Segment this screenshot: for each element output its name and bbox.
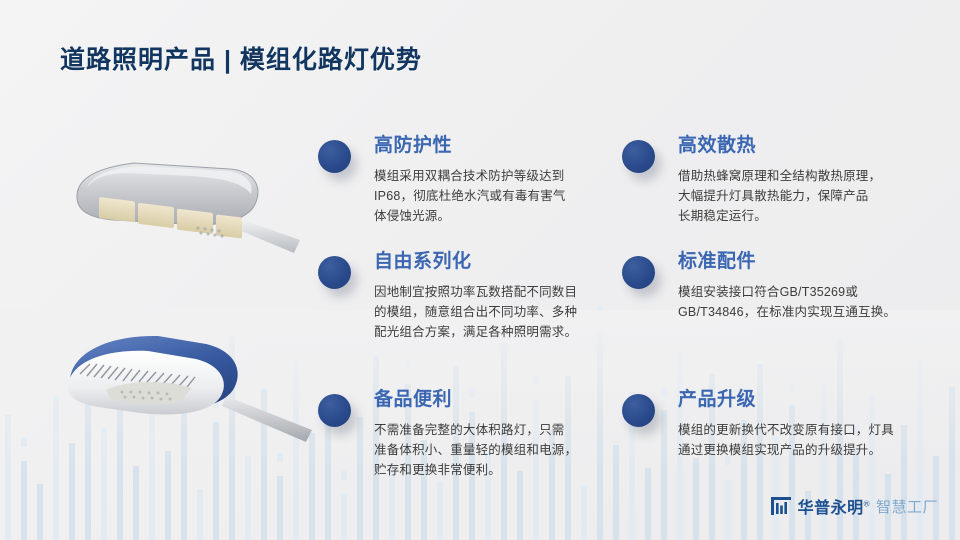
feature-body-line: 模组的更新换代不改变原有接口，灯具 [678, 420, 894, 440]
background-bar [645, 468, 652, 540]
bullet-dot-icon [318, 256, 351, 289]
feature-heading: 高效散热 [678, 136, 881, 157]
feature-body-line: 的模组，随意组合出不同功率、多种 [374, 302, 577, 322]
logo-brand-text: 华普永明 [798, 500, 864, 517]
background-bar-tick [661, 387, 668, 396]
feature-body-line: 模组采用双耦合技术防护等级达到 [374, 166, 566, 186]
background-bar [693, 458, 700, 540]
feature-body-line: 准备体积小、重量轻的模组和电源， [374, 440, 577, 460]
feature-body-line: 不需准备完整的大体积路灯，只需 [374, 420, 577, 440]
hpwinner-bracket-icon [770, 496, 792, 516]
feature-body-line: GB/T34846，在标准内实现互通互换。 [678, 302, 896, 322]
background-bar-tick [597, 307, 604, 316]
background-bar-tick [21, 438, 28, 447]
background-bar [165, 451, 172, 540]
background-bar-tick [341, 471, 348, 480]
feature-body-line: 配光组合方案，满足各种照明需求。 [374, 322, 577, 342]
background-bar [901, 425, 908, 540]
feature-body-line: 长期稳定运行。 [678, 206, 881, 226]
background-bar-tick [277, 453, 284, 462]
slide-canvas: 道路照明产品 | 模组化路灯优势 高防护性 模组采用双耦合技术防护等级达到 IP… [0, 0, 960, 540]
feature-heading: 备品便利 [374, 390, 577, 411]
street-lamp-oval-photo [30, 318, 320, 448]
background-bar [341, 494, 348, 540]
background-bar [277, 476, 284, 540]
background-bar [309, 433, 316, 540]
feature-heading: 标准配件 [678, 252, 896, 273]
feature-body-line: 因地制宜按照功率瓦数搭配不同数目 [374, 282, 577, 302]
background-bar [5, 415, 12, 540]
background-bar [597, 330, 604, 540]
feature-heading: 自由系列化 [374, 252, 577, 273]
feature-body: 因地制宜按照功率瓦数搭配不同数目 的模组，随意组合出不同功率、多种 配光组合方案… [374, 282, 577, 343]
background-bar [725, 479, 732, 540]
feature-body-line: IP68，彻底杜绝水汽或有毒有害气 [374, 186, 566, 206]
feature-body: 模组安装接口符合GB/T35269或 GB/T34846，在标准内实现互通互换。 [678, 282, 896, 323]
logo-suffix-text: 智慧工厂 [876, 496, 938, 517]
feature-body: 模组采用双耦合技术防护等级达到 IP68，彻底杜绝水汽或有毒有害气 体侵蚀光源。 [374, 166, 566, 227]
feature-body-line: 模组安装接口符合GB/T35269或 [678, 282, 896, 302]
background-bar [197, 489, 204, 540]
background-bar-tick [405, 361, 412, 370]
background-bar-tick [917, 336, 924, 345]
feature-body-line: 通过更换模组实现产品的升级提升。 [678, 440, 894, 460]
background-bar-tick [533, 376, 540, 385]
background-bar [613, 445, 620, 540]
bullet-dot-icon [622, 140, 655, 173]
background-bar [581, 486, 588, 540]
bullet-dot-icon [318, 394, 351, 427]
bullet-dot-icon [622, 394, 655, 427]
background-bar [245, 456, 252, 540]
background-bar [37, 484, 44, 540]
slide-title: 道路照明产品 | 模组化路灯优势 [60, 40, 422, 76]
feature-heading: 产品升级 [678, 390, 894, 411]
street-lamp-module-photo [42, 140, 307, 260]
background-bar [21, 461, 28, 540]
feature-body: 不需准备完整的大体积路灯，只需 准备体积小、重量轻的模组和电源， 贮存和更换非常… [374, 420, 577, 481]
background-bar [69, 443, 76, 540]
feature-body: 模组的更新换代不改变原有接口，灯具 通过更换模组实现产品的升级提升。 [678, 420, 894, 461]
brand-logo: 华普永明® 智慧工厂 [770, 494, 938, 518]
feature-body: 借助热蜂窝原理和全结构散热原理， 大幅提升灯具散热能力，保障产品 长期稳定运行。 [678, 166, 881, 227]
bullet-dot-icon [622, 256, 655, 289]
background-bar [949, 387, 956, 540]
background-bar [357, 417, 364, 540]
background-bar [661, 410, 668, 540]
logo-brand-name: 华普永明® [798, 494, 870, 518]
background-bar [133, 466, 140, 540]
feature-body-line: 贮存和更换非常便利。 [374, 460, 577, 480]
background-bar [437, 481, 444, 540]
feature-body-line: 体侵蚀光源。 [374, 206, 566, 226]
background-bar [517, 471, 524, 540]
feature-body-line: 借助热蜂窝原理和全结构散热原理， [678, 166, 881, 186]
logo-registered-mark: ® [864, 500, 870, 509]
feature-body-line: 大幅提升灯具散热能力，保障产品 [678, 186, 881, 206]
bullet-dot-icon [318, 140, 351, 173]
feature-heading: 高防护性 [374, 136, 566, 157]
